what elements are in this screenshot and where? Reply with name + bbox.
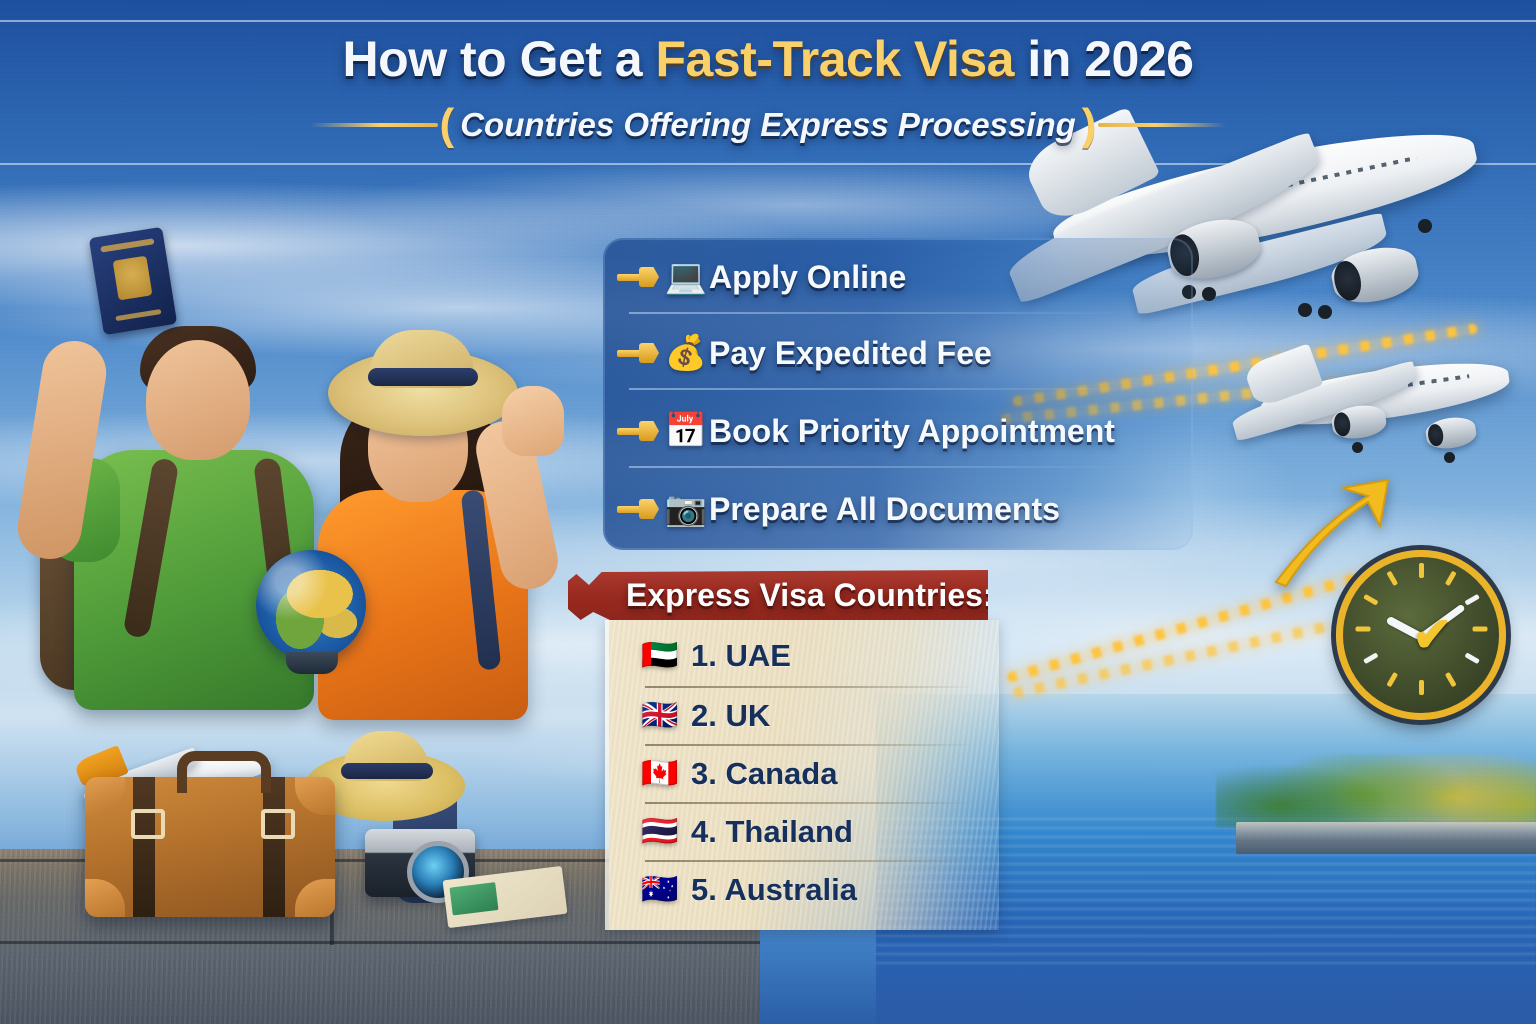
step-item-3[interactable]: 📅 Book Priority Appointment [617, 400, 1115, 462]
airplane-landing-gear [1352, 442, 1363, 453]
airplane-small [1200, 330, 1536, 480]
country-row-3[interactable]: 🇨🇦 3. Canada [629, 746, 837, 802]
step-item-4[interactable]: 📷 Prepare All Documents [617, 478, 1060, 540]
vintage-suitcase [85, 777, 335, 917]
flag-australia-icon: 🇦🇺 [629, 875, 691, 905]
money-bag-icon: 💰 [663, 336, 709, 370]
country-row-2[interactable]: 🇬🇧 2. UK [629, 688, 770, 744]
title-accent: Fast-Track Visa [656, 31, 1014, 87]
laptop-icon: 💻 [663, 260, 709, 294]
flag-thailand-icon: 🇹🇭 [629, 817, 691, 847]
arrow-bullet-icon [617, 499, 659, 519]
camera-icon: 📷 [663, 492, 709, 526]
flag-uae-icon: 🇦🇪 [629, 641, 691, 671]
globe-stand [286, 652, 338, 674]
arrow-bullet-icon [617, 267, 659, 287]
step-label: Book Priority Appointment [709, 413, 1115, 450]
country-name: 3. Canada [691, 756, 837, 792]
clock-icon: ✔ [1336, 550, 1504, 718]
straw-hat-prop-band [341, 763, 433, 779]
page-title: How to Get a Fast-Track Visa in 2026 [0, 30, 1536, 88]
country-row-4[interactable]: 🇹🇭 4. Thailand [629, 804, 853, 860]
suitcase-corner [295, 879, 335, 917]
subtitle-rule-right [1098, 123, 1226, 127]
step-item-2[interactable]: 💰 Pay Expedited Fee [617, 322, 992, 384]
subtitle-rule-left [310, 123, 438, 127]
calendar-check-icon: 📅 [663, 414, 709, 448]
traveler-couple-illustration [18, 190, 578, 690]
step-item-1[interactable]: 💻 Apply Online [617, 246, 906, 308]
step-label: Prepare All Documents [709, 491, 1060, 528]
country-row-1[interactable]: 🇦🇪 1. UAE [629, 628, 791, 684]
suitcase-buckle [261, 809, 295, 839]
step-divider [629, 388, 1129, 390]
step-label: Apply Online [709, 259, 906, 296]
globe-icon [256, 550, 366, 660]
paren-close: ) [1080, 103, 1099, 147]
paren-open: ( [438, 103, 457, 147]
airplane-landing-gear [1444, 452, 1455, 463]
waving-hand [502, 386, 564, 456]
countries-heading-banner: Express Visa Countries: [568, 570, 988, 620]
steps-panel: 💻 Apply Online 💰 Pay Expedited Fee 📅 Boo… [603, 238, 1193, 550]
arrow-bullet-icon [617, 421, 659, 441]
countries-panel: 🇦🇪 1. UAE 🇬🇧 2. UK 🇨🇦 3. Canada 🇹🇭 4. Th… [605, 620, 999, 930]
country-name: 5. Australia [691, 872, 857, 908]
title-part-one: How to Get a [343, 31, 656, 87]
country-name: 1. UAE [691, 638, 791, 674]
country-name: 4. Thailand [691, 814, 853, 850]
step-label: Pay Expedited Fee [709, 335, 992, 372]
top-divider-rule [0, 20, 1536, 22]
flag-uk-icon: 🇬🇧 [629, 701, 691, 731]
suitcase-strap [133, 777, 155, 917]
luggage-cluster [55, 745, 475, 935]
infographic-poster: ✔ [0, 0, 1536, 1024]
suitcase-corner [85, 777, 125, 815]
straw-hat-band [368, 368, 478, 386]
check-mark-icon: ✔ [1412, 612, 1452, 660]
man-head [146, 340, 250, 460]
passport-booklet [89, 227, 177, 335]
suitcase-corner [85, 879, 125, 917]
suitcase-strap [263, 777, 285, 917]
suitcase-handle [177, 751, 271, 793]
suitcase-buckle [131, 809, 165, 839]
airplane-landing-gear [1418, 219, 1432, 233]
airplane-landing-gear [1202, 287, 1216, 301]
airplane-landing-gear [1318, 305, 1332, 319]
subtitle-text: Countries Offering Express Processing [456, 106, 1080, 144]
subtitle-row: ( Countries Offering Express Processing … [0, 103, 1536, 147]
flag-canada-icon: 🇨🇦 [629, 759, 691, 789]
title-part-two: in 2026 [1014, 31, 1193, 87]
step-divider [629, 466, 1129, 468]
airplane-engine [1424, 415, 1478, 452]
country-name: 2. UK [691, 698, 770, 734]
country-row-5[interactable]: 🇦🇺 5. Australia [629, 862, 857, 918]
step-divider [629, 312, 1129, 314]
airplane-landing-gear [1298, 303, 1312, 317]
suitcase-corner [295, 777, 335, 815]
arrow-bullet-icon [617, 343, 659, 363]
countries-heading: Express Visa Countries: [626, 577, 994, 614]
